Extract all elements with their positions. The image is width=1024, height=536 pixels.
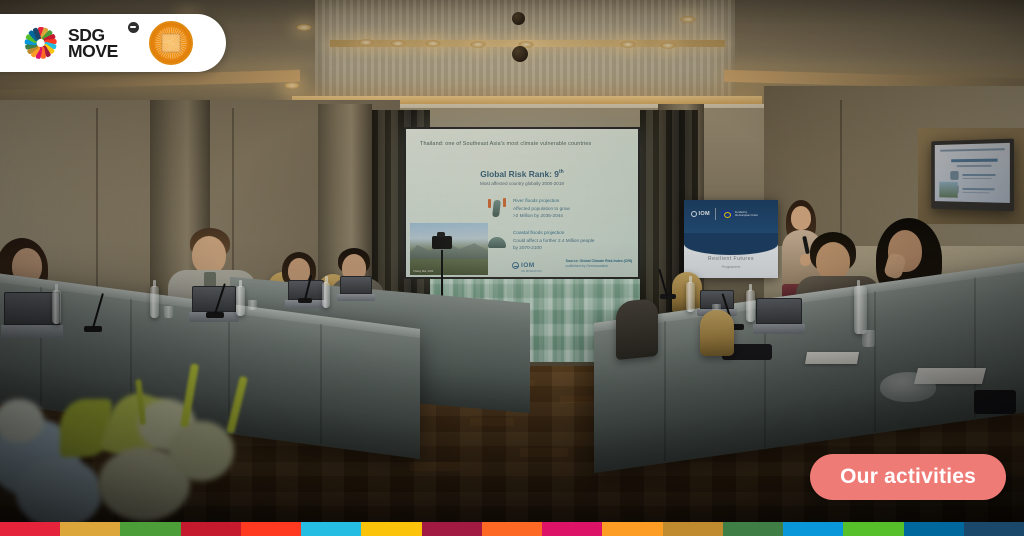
ceiling-downlight [284, 82, 300, 89]
slide-bullet-coastal-floods: Coastal floods projection Could affect a… [486, 229, 594, 252]
banner-curve [684, 233, 778, 255]
sdg-color-segment-1 [0, 522, 60, 536]
sdg-color-segment-9 [482, 522, 542, 536]
table-microphone-base [660, 294, 676, 299]
move-dot-icon [128, 22, 139, 33]
banner-tagline: Resilient Futures [684, 256, 778, 262]
sdg-color-segment-5 [241, 522, 301, 536]
slide-iom-label: IOM [521, 262, 535, 269]
sdg-move-logo-badge: SDG MOVE [0, 14, 226, 72]
chair [616, 298, 658, 360]
banner-subtagline: Programme [684, 265, 778, 269]
video-camera-icon [432, 236, 452, 249]
goldenrod-stalk [226, 376, 248, 434]
sdg-color-segment-10 [542, 522, 602, 536]
slide-rank-heading: Global Risk Rank: 9th [406, 169, 638, 179]
white-rose [168, 421, 234, 481]
water-bottle [52, 290, 61, 324]
ceiling-cove-light-left [0, 70, 300, 90]
sdg-color-segment-2 [60, 522, 120, 536]
banner-iom-logo: IOM [691, 211, 710, 217]
sdg-color-segment-7 [361, 522, 421, 536]
sdg-color-segment-12 [663, 522, 723, 536]
water-bottle [236, 286, 245, 316]
ceiling-speaker-icon [512, 12, 525, 25]
laptop [756, 298, 802, 334]
sdg-color-wheel-icon [24, 26, 58, 60]
slide-bullet-text: River floods projection Affected populat… [513, 197, 570, 220]
device-console [974, 390, 1016, 414]
water-bottle [686, 282, 695, 312]
our-activities-badge[interactable]: Our activities [810, 454, 1006, 500]
ceiling-downlight [660, 42, 676, 49]
sdg-color-segment-3 [120, 522, 180, 536]
eu-flag-icon [721, 210, 733, 218]
laptop [340, 276, 372, 301]
sdg-color-segment-16 [904, 522, 964, 536]
sdg-color-segment-8 [422, 522, 482, 536]
conference-room-photo: Thailand: one of Southeast Asia's most c… [0, 0, 1024, 536]
water-bottle [746, 290, 755, 322]
sdg-color-segment-6 [301, 522, 361, 536]
slide-bullet-text: Coastal floods projection Could affect a… [513, 229, 594, 252]
sdg-color-segment-13 [723, 522, 783, 536]
sdg-color-segment-14 [783, 522, 843, 536]
drinking-glass [862, 330, 875, 347]
goldenrod-stalk [180, 363, 199, 427]
slide-title: Thailand: one of Southeast Asia's most c… [420, 141, 630, 147]
slide-iom-logo: IOM [512, 262, 535, 269]
iom-globe-icon [512, 262, 519, 269]
sdg-color-segment-17 [964, 522, 1024, 536]
glass-bowl [880, 372, 936, 402]
ceiling-speaker-icon [512, 46, 528, 62]
brand-wordmark: SDG MOVE [68, 27, 118, 59]
sdg-color-segment-4 [181, 522, 241, 536]
banner-logo-row: IOM Funded by the European Union [691, 208, 758, 220]
slide-bullet-river-floods: River floods projection Affected populat… [486, 197, 570, 220]
ceiling-downlight [358, 39, 374, 46]
water-bottle [150, 286, 159, 318]
slide-iom-sublabel: UN MIGRATION [521, 270, 542, 273]
banner-divider [715, 208, 716, 220]
slide-subtitle: Most affected country globally 2000-2019 [406, 181, 638, 186]
flower-arrangement [0, 361, 260, 536]
coastal-wave-icon [486, 229, 508, 251]
ceiling-downlight [470, 41, 486, 48]
wall-monitor-screen [935, 143, 1010, 203]
sdg-color-bar [0, 522, 1024, 536]
ceiling-downlight [620, 41, 636, 48]
iom-rollup-banner: IOM Funded by the European Union Resilie… [684, 200, 778, 278]
ceiling-downlight [296, 24, 312, 31]
banner-eu-text: Funded by the European Union [735, 211, 758, 218]
hydrangea-flower [16, 457, 102, 529]
ceiling-downlight [425, 40, 441, 47]
iom-globe-icon [691, 211, 697, 217]
ceiling-downlight [390, 40, 406, 47]
river-flood-icon [486, 197, 508, 219]
chair [700, 310, 734, 356]
slide-source-note: Source: Global Climate Risk Index (CRI) … [566, 259, 632, 270]
banner-eu-logo: Funded by the European Union [721, 210, 758, 218]
thai-government-seal-icon [149, 21, 193, 65]
sdg-color-segment-11 [602, 522, 662, 536]
wall-monitor [931, 139, 1014, 212]
sdg-color-segment-15 [843, 522, 903, 536]
notepad [805, 352, 859, 364]
ceiling-downlight [680, 16, 696, 23]
banner-iom-label: IOM [699, 211, 710, 217]
water-bottle [854, 286, 867, 334]
drinking-glass [164, 306, 173, 318]
water-bottle [322, 282, 330, 308]
drinking-glass [248, 300, 257, 310]
